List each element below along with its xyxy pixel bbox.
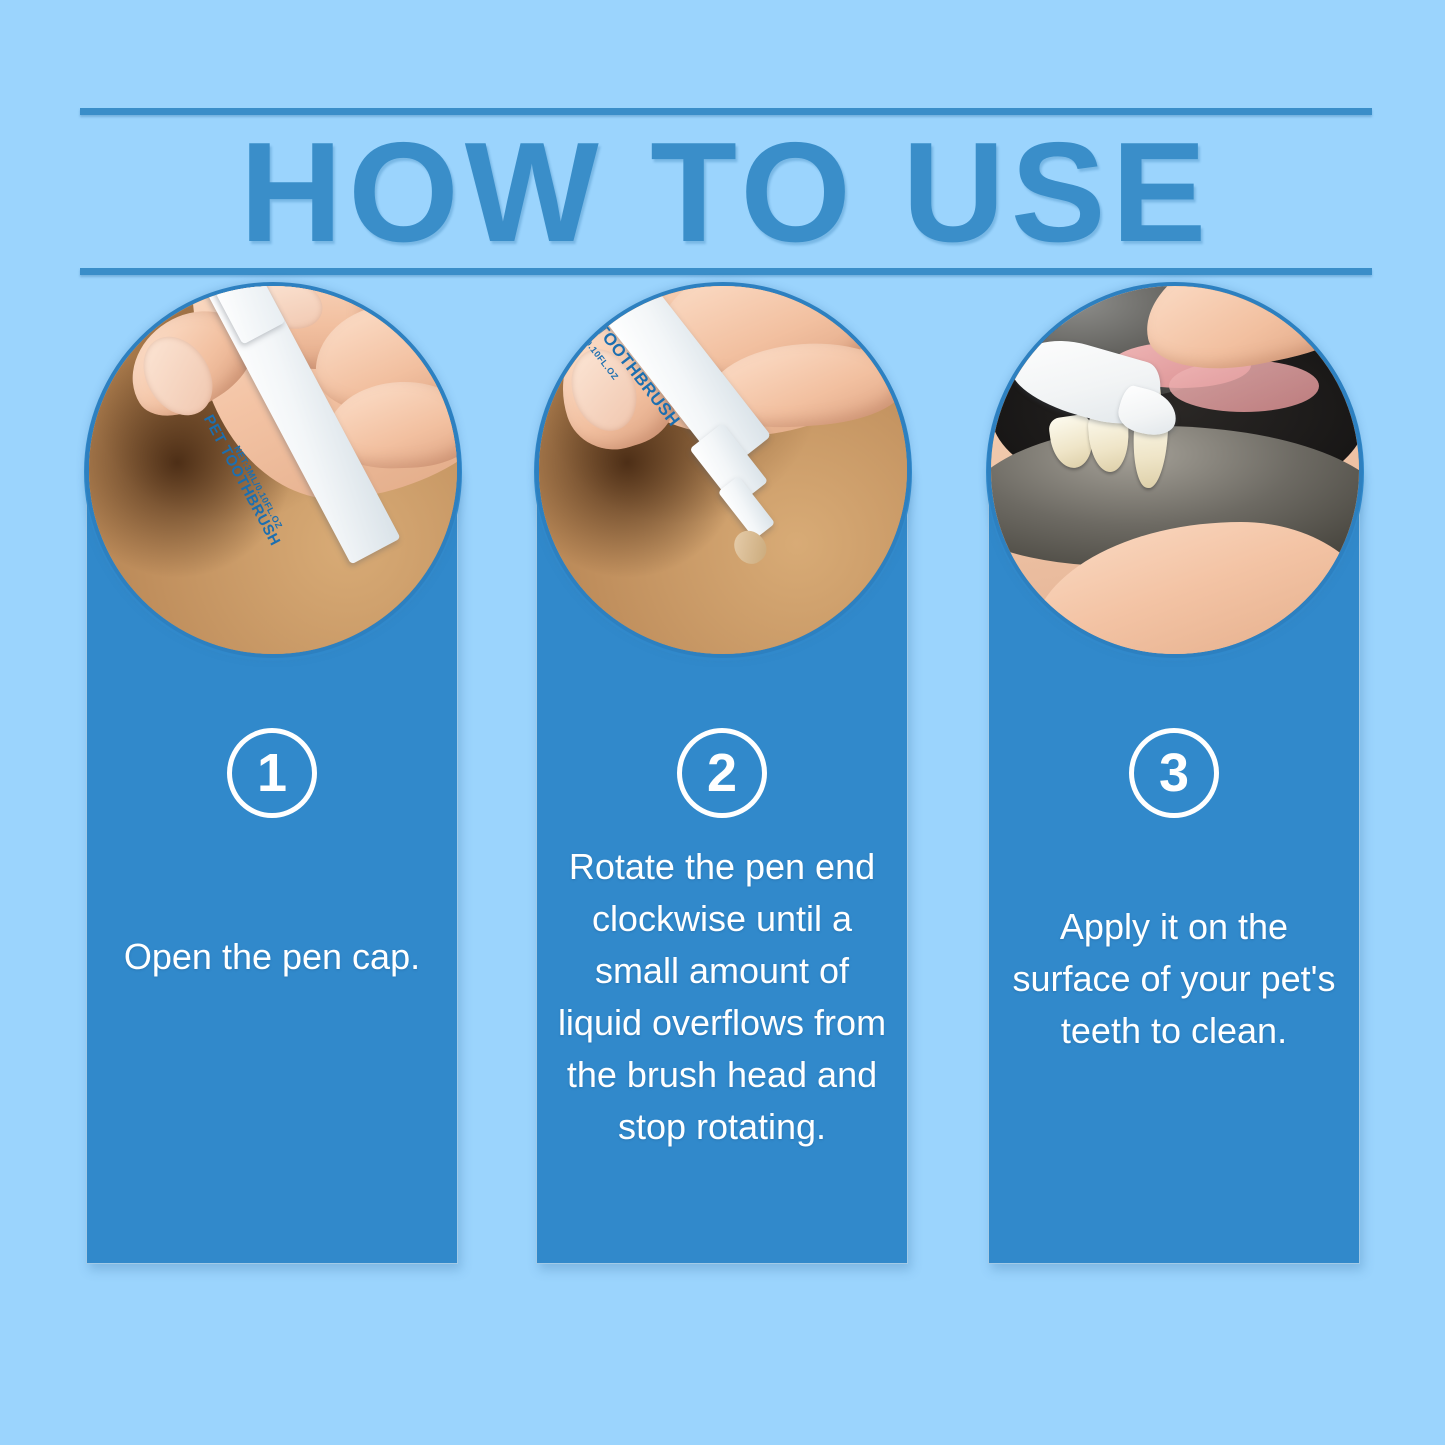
step-2-photo: TOOTHBRUSH 0.10FL.OZ xyxy=(535,282,911,658)
step-caption-1: Open the pen cap. xyxy=(99,931,445,983)
step-caption-2: Rotate the pen end clockwise until a sma… xyxy=(549,841,895,1153)
step-number-badge-1: 1 xyxy=(227,728,317,818)
step-3-photo xyxy=(987,282,1363,658)
step-card-1: PET TOOTHBRUSH NET:3ML/0.10FL.OZ 1 Open … xyxy=(86,468,458,1264)
steps-container: PET TOOTHBRUSH NET:3ML/0.10FL.OZ 1 Open … xyxy=(0,0,1445,1445)
step-number-badge-2: 2 xyxy=(677,728,767,818)
rotating-pen-scene: TOOTHBRUSH 0.10FL.OZ xyxy=(539,286,907,654)
step-caption-3: Apply it on the surface of your pet's te… xyxy=(1001,901,1347,1057)
step-number-badge-3: 3 xyxy=(1129,728,1219,818)
step-1-photo: PET TOOTHBRUSH NET:3ML/0.10FL.OZ xyxy=(85,282,461,658)
hand-holding-pen-scene: PET TOOTHBRUSH NET:3ML/0.10FL.OZ xyxy=(89,286,457,654)
how-to-use-infographic: HOW TO USE xyxy=(0,0,1445,1445)
step-card-3: 3 Apply it on the surface of your pet's … xyxy=(988,468,1360,1264)
step-card-2: TOOTHBRUSH 0.10FL.OZ 2 Rotate the pen en… xyxy=(536,468,908,1264)
dog-teeth-scene xyxy=(991,286,1359,654)
tongue xyxy=(1169,360,1319,412)
